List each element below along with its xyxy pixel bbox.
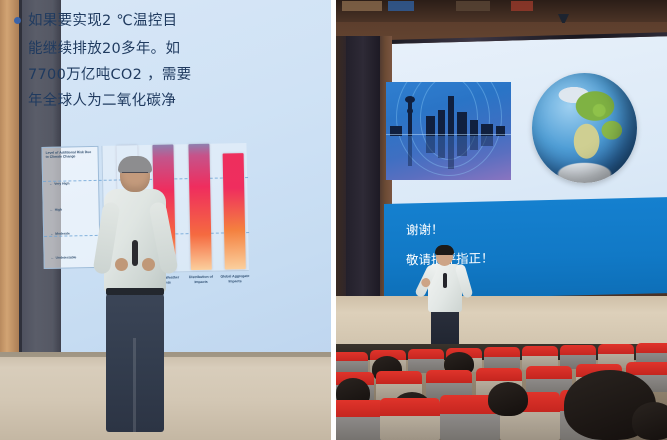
bullet-text-3: 7700万亿吨CO2 ，需要 — [28, 62, 276, 88]
xlabel-distribution-impacts: Distribution of Impacts — [184, 275, 218, 285]
chart-legend-title: Level of Additional Risk Due to Climate … — [42, 147, 97, 160]
speaker-left-hand-left — [115, 258, 128, 271]
slide-bullet-text: 如果要实现2 ℃温控目 能继续排放20多年。如 7700万亿吨CO2 ，需要 年… — [14, 8, 276, 114]
earth-globe-image — [532, 73, 637, 183]
shanghai-skyline-image — [386, 82, 511, 180]
bullet-text-2: 能继续排放20多年。如 — [28, 36, 276, 62]
audience-head — [632, 402, 667, 440]
right-photo: 谢谢！ 敬请批评指正！ — [336, 0, 667, 440]
glasses-icon — [122, 172, 148, 177]
left-photo: 如果要实现2 ℃温控目 能继续排放20多年。如 7700万亿吨CO2 ，需要 年… — [0, 0, 331, 440]
xlabel-global-aggregate: Global Aggregate Impacts — [218, 274, 252, 284]
risk-level-high: High — [50, 208, 62, 212]
bullet-text-1: 如果要实现2 ℃温控目 — [28, 8, 177, 34]
speaker-left — [96, 158, 174, 436]
speaker-right — [422, 247, 468, 355]
speaker-left-legs — [106, 292, 164, 432]
photo-pair: 如果要实现2 ℃温控目 能继续排放20多年。如 7700万亿吨CO2 ，需要 年… — [0, 0, 667, 440]
risk-level-undetectable: Undetectable — [51, 255, 77, 259]
speaker-left-hand-right — [142, 258, 155, 271]
seat — [380, 398, 440, 440]
bar-distribution-impacts — [188, 144, 211, 270]
ceiling — [336, 0, 667, 22]
risk-level-very-high: Very High — [49, 181, 69, 185]
bullet-dot-icon — [14, 17, 21, 24]
seat — [336, 352, 368, 374]
bullet-line-1: 如果要实现2 ℃温控目 — [14, 8, 276, 34]
bar-global-aggregate — [223, 153, 246, 269]
banner-line-1: 谢谢！ — [406, 221, 444, 239]
speaker-left-belt — [106, 288, 164, 295]
speaker-left-hair — [118, 156, 152, 173]
microphone-right — [443, 273, 447, 288]
audience-head — [488, 382, 528, 416]
bullet-text-4: 年全球人为二氧化碳净 — [28, 88, 276, 114]
speaker-right-hair — [435, 245, 454, 255]
chart-legend: Level of Additional Risk Due to Climate … — [41, 146, 100, 269]
microphone-left — [132, 240, 138, 266]
seat — [336, 400, 384, 440]
